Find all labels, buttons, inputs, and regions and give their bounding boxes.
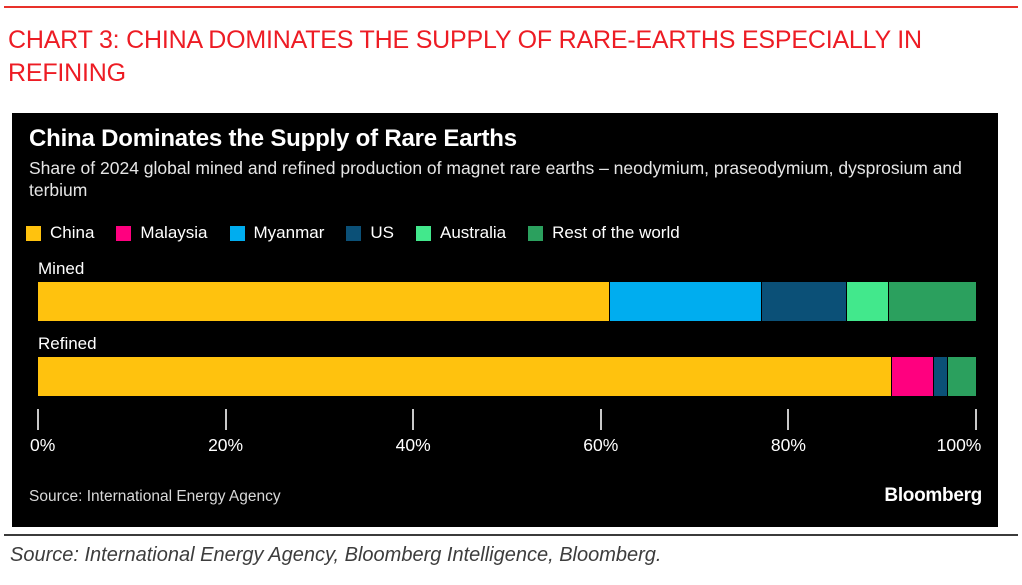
legend-item-label: Rest of the world bbox=[552, 223, 680, 243]
axis-tick bbox=[412, 409, 414, 430]
bar-segment bbox=[38, 282, 610, 321]
legend-item[interactable]: US bbox=[346, 223, 394, 243]
legend-swatch-icon bbox=[346, 226, 361, 241]
bar-segment bbox=[934, 357, 948, 396]
bar-segment bbox=[38, 357, 892, 396]
axis-tick-label: 80% bbox=[771, 435, 806, 456]
legend-item[interactable]: China bbox=[26, 223, 94, 243]
legend-swatch-icon bbox=[528, 226, 543, 241]
bar-group-refined: Refined bbox=[38, 335, 976, 396]
stacked-bar-refined bbox=[38, 357, 976, 396]
chart-subtitle: Share of 2024 global mined and refined p… bbox=[29, 157, 969, 202]
bar-label-refined: Refined bbox=[38, 335, 976, 354]
figure-caption: Source: International Energy Agency, Blo… bbox=[10, 544, 661, 567]
bottom-divider bbox=[4, 534, 1018, 536]
legend-item[interactable]: Myanmar bbox=[230, 223, 325, 243]
legend-item[interactable]: Malaysia bbox=[116, 223, 207, 243]
legend-item-label: US bbox=[370, 223, 394, 243]
stacked-bar-mined bbox=[38, 282, 976, 321]
legend-item[interactable]: Rest of the world bbox=[528, 223, 680, 243]
bloomberg-chart-panel: China Dominates the Supply of Rare Earth… bbox=[12, 113, 998, 527]
legend-item[interactable]: Australia bbox=[416, 223, 506, 243]
axis-tick bbox=[787, 409, 789, 430]
legend-item-label: Malaysia bbox=[140, 223, 207, 243]
bar-segment bbox=[889, 282, 976, 321]
axis-tick-label: 20% bbox=[208, 435, 243, 456]
axis-tick bbox=[975, 409, 977, 430]
axis-tick-label: 100% bbox=[937, 435, 982, 456]
axis-tick-label: 40% bbox=[396, 435, 431, 456]
legend-item-label: Myanmar bbox=[254, 223, 325, 243]
bar-segment bbox=[610, 282, 762, 321]
page-headline: CHART 3: CHINA DOMINATES THE SUPPLY OF R… bbox=[8, 24, 1008, 89]
legend-swatch-icon bbox=[230, 226, 245, 241]
chart-source-note: Source: International Energy Agency bbox=[29, 488, 281, 506]
legend-item-label: Australia bbox=[440, 223, 506, 243]
bar-segment bbox=[892, 357, 934, 396]
legend-swatch-icon bbox=[116, 226, 131, 241]
axis-tick-label: 60% bbox=[583, 435, 618, 456]
legend-item-label: China bbox=[50, 223, 94, 243]
bloomberg-logo: Bloomberg bbox=[884, 485, 982, 507]
bar-label-mined: Mined bbox=[38, 260, 976, 279]
axis-tick bbox=[37, 409, 39, 430]
top-divider bbox=[4, 6, 1018, 8]
axis-tick bbox=[225, 409, 227, 430]
chart-title: China Dominates the Supply of Rare Earth… bbox=[29, 125, 517, 153]
x-axis: 0%20%40%60%80%100% bbox=[38, 409, 976, 469]
chart-legend: ChinaMalaysiaMyanmarUSAustraliaRest of t… bbox=[26, 223, 702, 243]
axis-tick-label: 0% bbox=[30, 435, 55, 456]
axis-tick bbox=[600, 409, 602, 430]
legend-swatch-icon bbox=[416, 226, 431, 241]
legend-swatch-icon bbox=[26, 226, 41, 241]
chart-page: CHART 3: CHINA DOMINATES THE SUPPLY OF R… bbox=[0, 0, 1022, 585]
bar-segment bbox=[762, 282, 847, 321]
bar-segment bbox=[847, 282, 888, 321]
bar-segment bbox=[948, 357, 976, 396]
bar-group-mined: Mined bbox=[38, 260, 976, 321]
